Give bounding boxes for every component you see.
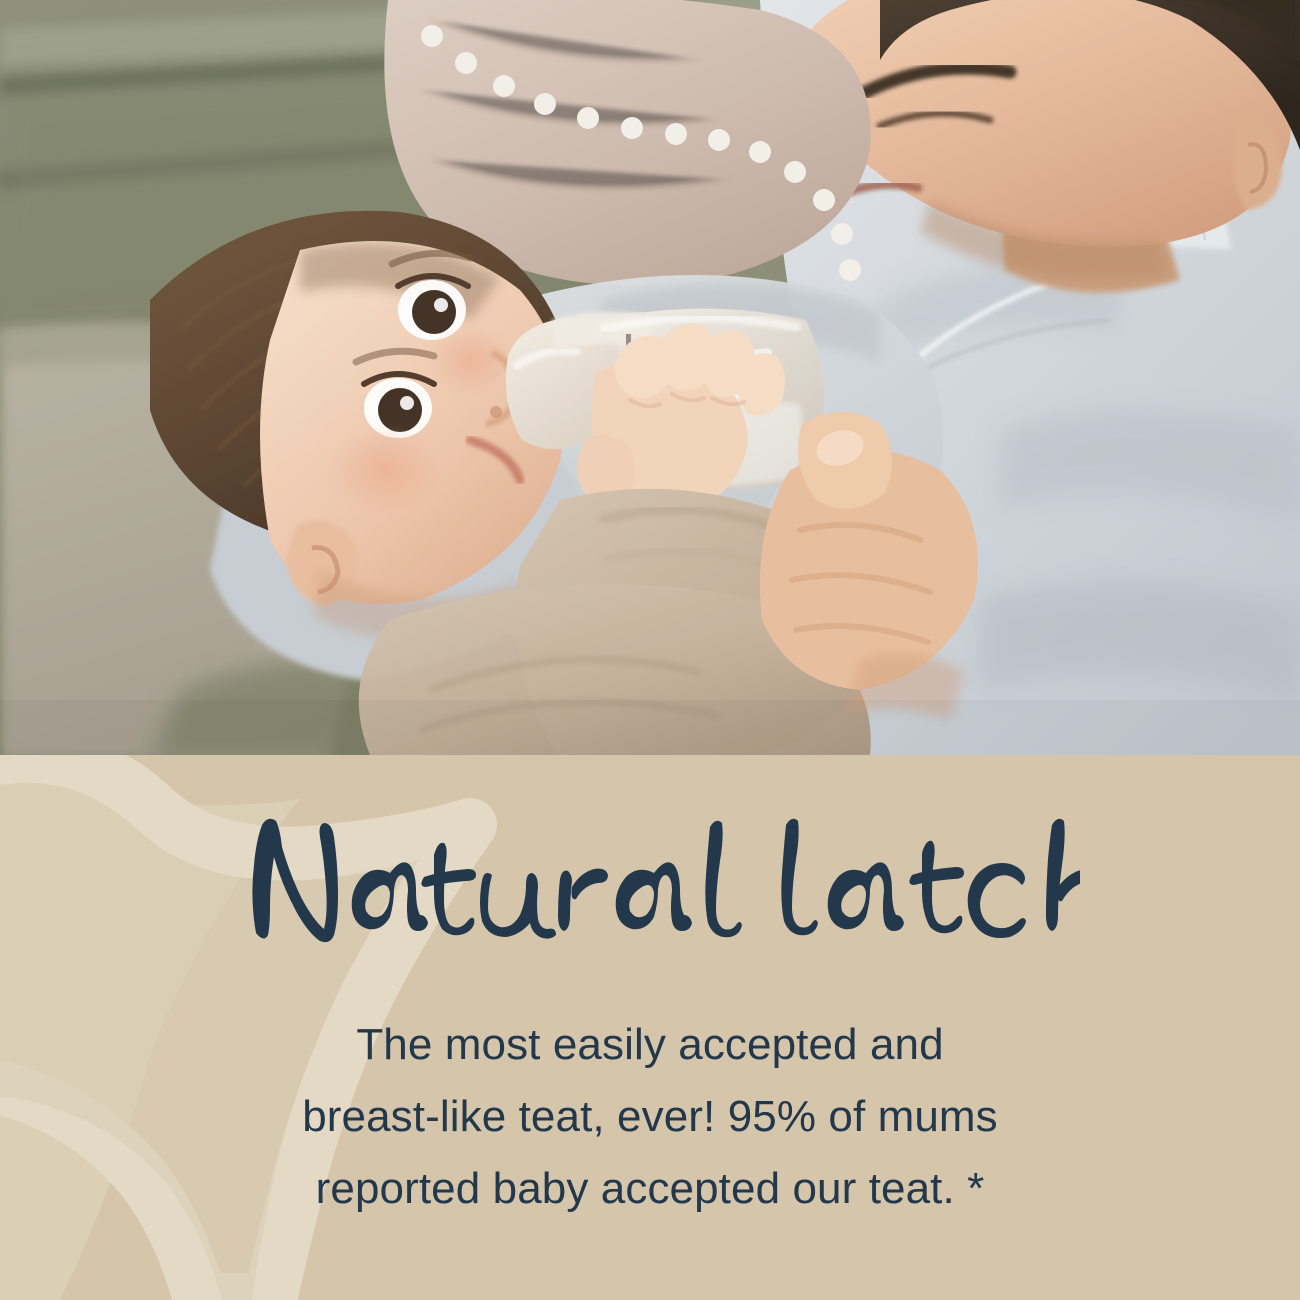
description-line-3: reported baby accepted our teat. *: [150, 1153, 1150, 1225]
product-feature-banner: Natural latch The most easily accepted a…: [0, 0, 1300, 1300]
feature-description: The most easily accepted and breast-like…: [150, 1009, 1150, 1225]
description-line-1: The most easily accepted and: [150, 1009, 1150, 1081]
page-title: Natural latch: [220, 803, 1080, 953]
description-line-2: breast-like teat, ever! 95% of mums: [150, 1081, 1150, 1153]
copy-panel: Natural latch The most easily accepted a…: [0, 755, 1300, 1300]
hero-photo: [0, 0, 1300, 755]
